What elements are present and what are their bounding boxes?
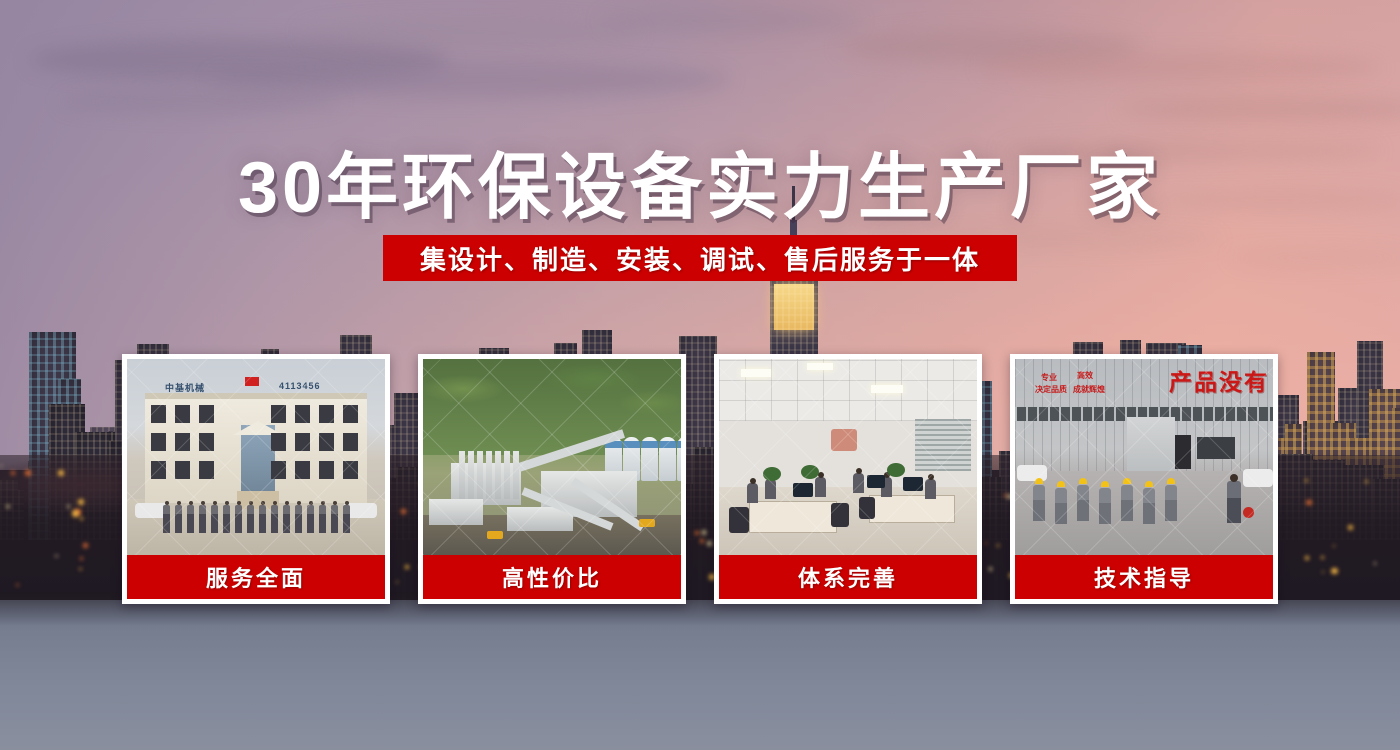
factory-slogan-small: 专业 xyxy=(1041,373,1057,382)
street-light xyxy=(83,543,88,548)
building-sign-text: 中基机械 xyxy=(165,381,205,394)
street-light xyxy=(78,499,84,505)
company-office-building-photo: 中基机械 4113456 xyxy=(127,359,385,555)
street-light xyxy=(0,465,2,467)
office-interior-staff-photo xyxy=(719,359,977,555)
factory-slogan-small: 决定品质 xyxy=(1035,385,1067,394)
card-label-bar: 服务全面 xyxy=(127,555,385,599)
street-light xyxy=(75,509,81,515)
cloud xyxy=(980,52,1380,82)
building-phone-text: 4113456 xyxy=(279,381,321,391)
street-light xyxy=(1348,525,1353,530)
street-light xyxy=(1374,562,1376,564)
banner-stage: 30年环保设备实力生产厂家 集设计、制造、安装、调试、售后服务于一体 中基机械 … xyxy=(0,0,1400,750)
street-light xyxy=(55,555,57,557)
factory-slogan-small: 高效 xyxy=(1077,371,1093,380)
cloud xyxy=(1120,96,1400,122)
subtitle-text: 集设计、制造、安装、调试、售后服务于一体 xyxy=(420,240,980,277)
street-light xyxy=(1331,568,1338,575)
street-light xyxy=(1305,556,1308,559)
window-blinds-icon xyxy=(915,419,971,471)
street-light xyxy=(72,510,79,517)
street-light xyxy=(80,557,83,560)
street-light xyxy=(1305,479,1308,482)
street-light xyxy=(25,470,32,477)
cloud xyxy=(600,8,860,34)
card-label-bar: 体系完善 xyxy=(719,555,977,599)
street-light xyxy=(1333,545,1335,547)
feature-card[interactable]: 体系完善 xyxy=(714,354,982,604)
street-light xyxy=(1365,480,1368,483)
flag-icon xyxy=(245,377,259,386)
factory-workers-training-photo: 产品没有 专业 高效 决定品质 成就辉煌 xyxy=(1015,359,1273,555)
aerial-production-plant-photo xyxy=(423,359,681,555)
card-label-bar: 技术指导 xyxy=(1015,555,1273,599)
factory-slogan-small: 成就辉煌 xyxy=(1073,385,1105,394)
cloud xyxy=(60,90,340,114)
card-label-text: 技术指导 xyxy=(1094,561,1194,593)
river-water xyxy=(0,600,1400,750)
street-light xyxy=(16,584,19,587)
cloud xyxy=(300,18,640,48)
factory-slogan-big: 产品没有 xyxy=(1169,363,1269,397)
street-light xyxy=(79,568,81,570)
feature-card[interactable]: 产品没有 专业 高效 决定品质 成就辉煌 技术指导 xyxy=(1010,354,1278,604)
street-light xyxy=(67,505,70,508)
wall-logo-icon xyxy=(831,429,857,451)
card-label-text: 服务全面 xyxy=(206,561,306,593)
street-light xyxy=(6,505,10,509)
street-light xyxy=(58,470,64,476)
feature-card[interactable]: 高性价比 xyxy=(418,354,686,604)
page-title: 30年环保设备实力生产厂家 xyxy=(0,128,1400,233)
card-label-bar: 高性价比 xyxy=(423,555,681,599)
card-label-text: 体系完善 xyxy=(798,561,898,593)
street-light xyxy=(11,471,16,476)
street-light xyxy=(1306,500,1311,505)
card-label-text: 高性价比 xyxy=(502,561,602,593)
street-light xyxy=(80,517,83,520)
street-light xyxy=(1321,556,1324,559)
feature-card[interactable]: 中基机械 4113456 服务全面 xyxy=(122,354,390,604)
street-light xyxy=(1322,571,1324,573)
subtitle-banner: 集设计、制造、安装、调试、售后服务于一体 xyxy=(383,235,1017,281)
feature-card-list: 中基机械 4113456 服务全面 高性价比 xyxy=(122,354,1278,604)
